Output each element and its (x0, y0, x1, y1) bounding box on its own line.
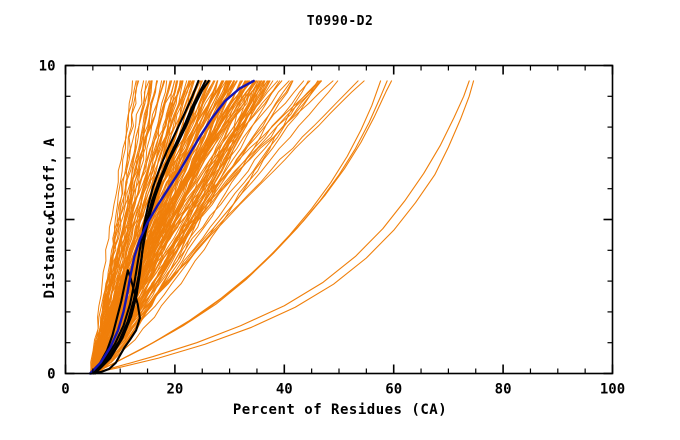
chart-canvas: T0990-D2 Distance Cutoff, A Percent of R… (0, 0, 680, 440)
curves-layer (90, 81, 473, 374)
x-tick-label: 80 (495, 382, 512, 398)
plot-area: 0204060801000510 (0, 0, 680, 440)
x-tick-label: 40 (276, 382, 293, 398)
x-tick-label: 0 (61, 382, 69, 398)
y-tick-label: 0 (47, 367, 55, 383)
y-tick-label: 5 (47, 213, 55, 229)
y-tick-label: 10 (39, 59, 56, 75)
x-tick-label: 20 (166, 382, 183, 398)
x-tick-label: 100 (600, 382, 625, 398)
x-tick-label: 60 (385, 382, 402, 398)
